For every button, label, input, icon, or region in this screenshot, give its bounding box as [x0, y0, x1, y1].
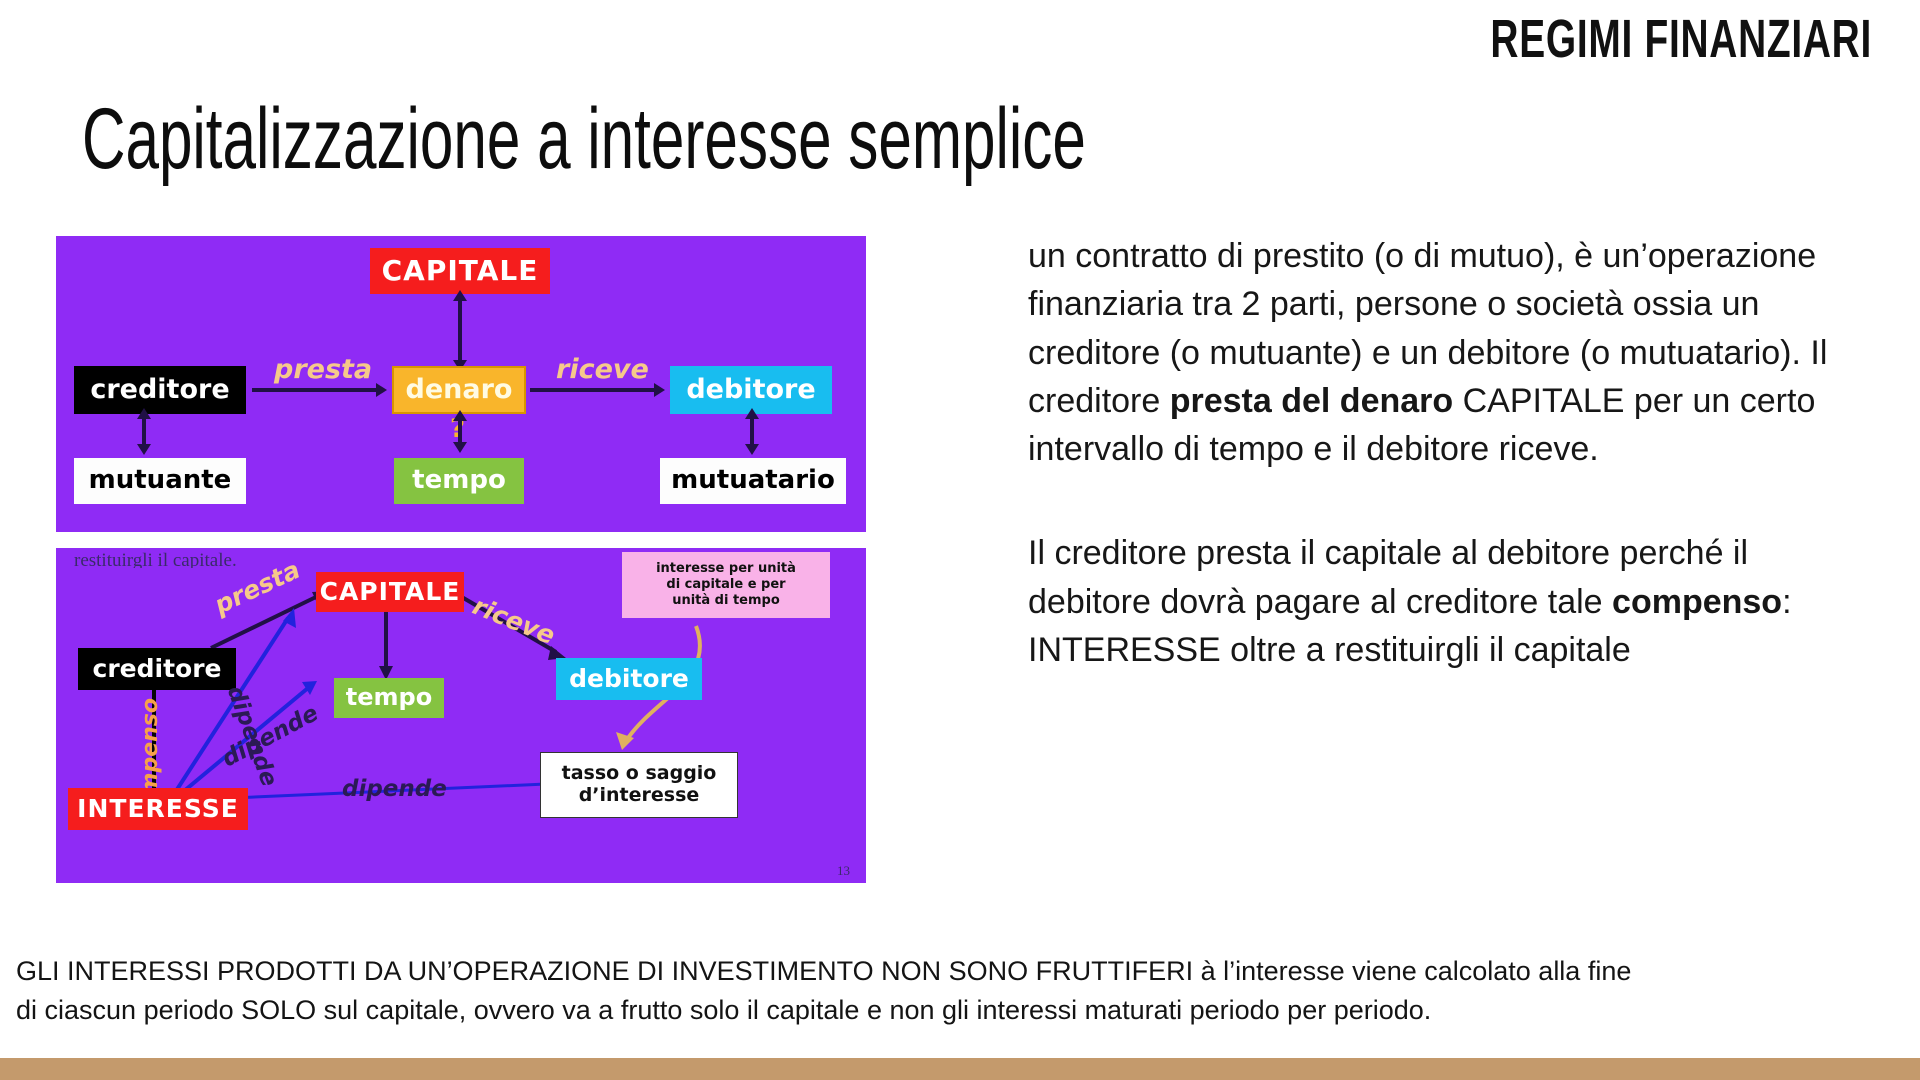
diagram-column: CAPITALE creditore presta denaro riceve …	[56, 236, 866, 883]
node-denaro: denaro	[392, 366, 526, 414]
node-interesse: INTERESSE	[68, 788, 248, 830]
arrow-creditore-denaro	[252, 388, 378, 392]
diagram2-page-number: 13	[837, 863, 850, 879]
label-riceve: riceve	[556, 354, 649, 385]
slide-root: REGIMI FINANZIARI Capitalizzazione a int…	[0, 0, 1920, 1080]
tasso-line-1: tasso o saggio	[562, 763, 717, 785]
node-debitore: debitore	[670, 366, 832, 414]
arrowhead-down-mutuatario	[745, 444, 759, 455]
node-capitale: CAPITALE	[370, 248, 550, 294]
node-nota-interesse: interesse per unità di capitale e per un…	[622, 552, 830, 618]
body-text-column: un contratto di prestito (o di mutuo), è…	[1028, 232, 1858, 674]
arrowhead-down-mutuante	[137, 444, 151, 455]
arrow-capitale-denaro	[458, 298, 462, 366]
label-dipende-3: dipende	[342, 776, 447, 802]
node-tempo: tempo	[394, 458, 524, 504]
diagram-interesse: restituirgli il capitale.	[56, 548, 866, 883]
label-presta: presta	[274, 354, 372, 385]
arrowhead-up-denaro2	[453, 410, 467, 421]
nota-line-3: unità di tempo	[672, 593, 780, 609]
paragraph-spacer	[1028, 473, 1858, 529]
node-tasso-saggio: tasso o saggio d’interesse	[540, 752, 738, 818]
paragraph-2: Il creditore presta il capitale al debit…	[1028, 529, 1858, 674]
node-mutuatario: mutuatario	[660, 458, 846, 504]
tasso-line-2: d’interesse	[579, 785, 700, 807]
node-creditore-2: creditore	[78, 648, 236, 690]
p2-bold: compenso	[1612, 583, 1782, 621]
nota-line-2: di capitale e per	[666, 577, 785, 593]
node-creditore: creditore	[74, 366, 246, 414]
node-tempo-2: tempo	[334, 678, 444, 718]
arrowhead-up-creditore	[137, 408, 151, 419]
slide-header-title: REGIMI FINANZIARI	[524, 8, 1872, 70]
arrowhead-right-debitore	[654, 383, 665, 397]
arrowhead-up-debitore	[745, 408, 759, 419]
arrowhead-up-capitale	[453, 290, 467, 301]
footer-bar	[0, 1058, 1920, 1080]
paragraph-1: un contratto di prestito (o di mutuo), è…	[1028, 232, 1858, 473]
arrowhead-right-denaro	[376, 383, 387, 397]
diagram-prestito: CAPITALE creditore presta denaro riceve …	[56, 236, 866, 532]
page-title: Capitalizzazione a interesse semplice	[82, 96, 1086, 182]
arrow-denaro-debitore	[530, 388, 656, 392]
p1-bold: presta del denaro	[1170, 382, 1453, 420]
caption-line-2: di ciascun periodo SOLO sul capitale, ov…	[16, 991, 1906, 1030]
arrowhead-down-tempo	[453, 442, 467, 453]
node-capitale-2: CAPITALE	[316, 572, 464, 612]
bottom-caption: GLI INTERESSI PRODOTTI DA UN’OPERAZIONE …	[16, 952, 1906, 1030]
caption-line-1: GLI INTERESSI PRODOTTI DA UN’OPERAZIONE …	[16, 952, 1906, 991]
node-debitore-2: debitore	[556, 658, 702, 700]
node-mutuante: mutuante	[74, 458, 246, 504]
nota-line-1: interesse per unità	[656, 561, 796, 577]
